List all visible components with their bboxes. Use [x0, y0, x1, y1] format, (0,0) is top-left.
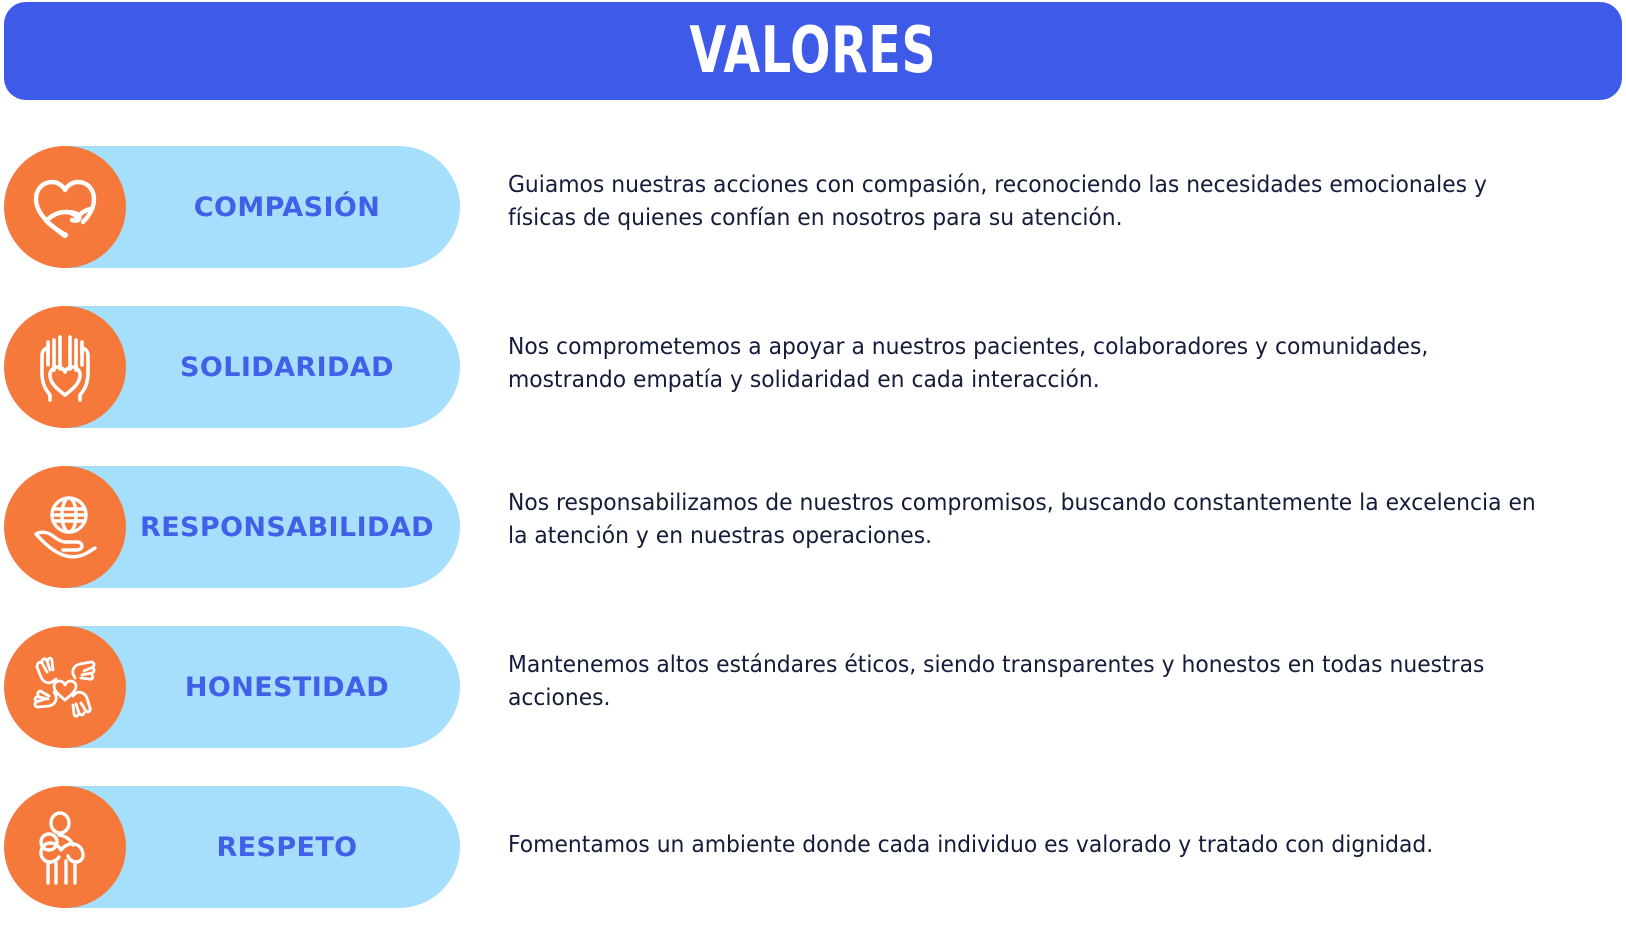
- value-label: COMPASIÓN: [84, 194, 380, 221]
- globe-on-hand-icon: [4, 466, 126, 588]
- value-row: COMPASIÓN Guiamos nuestras acciones con …: [0, 126, 1626, 286]
- value-description-wrap: Guiamos nuestras acciones con compasión,…: [508, 126, 1618, 286]
- value-description-wrap: Fomentamos un ambiente donde cada indivi…: [508, 766, 1618, 926]
- value-description-wrap: Nos comprometemos a apoyar a nuestros pa…: [508, 286, 1618, 446]
- values-list: COMPASIÓN Guiamos nuestras acciones con …: [0, 126, 1626, 926]
- two-hands-holding-heart-icon: [4, 306, 126, 428]
- value-row: HONESTIDAD: [0, 606, 1626, 766]
- value-description: Fomentamos un ambiente donde cada indivi…: [508, 828, 1540, 861]
- value-description: Nos comprometemos a apoyar a nuestros pa…: [508, 330, 1540, 397]
- four-hands-around-heart-icon: [4, 626, 126, 748]
- value-label: RESPETO: [106, 834, 357, 861]
- two-people-embracing-icon: [4, 786, 126, 908]
- value-row: SOLIDARIDAD: [0, 286, 1626, 446]
- page-title: VALORES: [690, 19, 937, 83]
- value-description: Nos responsabilizamos de nuestros compro…: [508, 486, 1540, 553]
- value-row: RESPONSABILIDAD Nos responsabiliz: [0, 446, 1626, 606]
- heart-with-hand-icon: [4, 146, 126, 268]
- value-row: RESPETO: [0, 766, 1626, 926]
- values-infographic: VALORES COMPASIÓN Guiamos nuestras acci: [0, 0, 1626, 946]
- value-description-wrap: Nos responsabilizamos de nuestros compro…: [508, 446, 1618, 606]
- value-description: Mantenemos altos estándares éticos, sien…: [508, 648, 1540, 715]
- value-description-wrap: Mantenemos altos estándares éticos, sien…: [508, 606, 1618, 766]
- value-description: Guiamos nuestras acciones con compasión,…: [508, 168, 1540, 235]
- header-banner: VALORES: [4, 2, 1622, 100]
